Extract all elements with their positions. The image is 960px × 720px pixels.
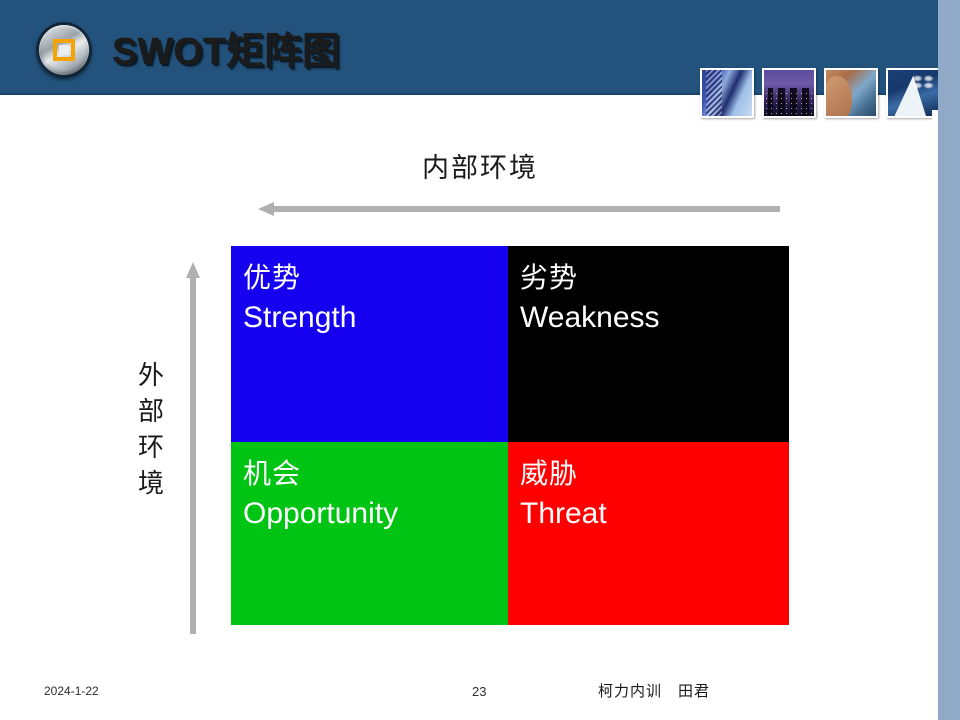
axis-label-char: 部 bbox=[134, 394, 168, 430]
arrow-shaft bbox=[272, 206, 780, 212]
swot-matrix: 优势 Strength 劣势 Weakness 机会 Opportunity 威… bbox=[231, 246, 789, 625]
night-city-skyline-photo bbox=[762, 68, 816, 118]
swot-quadrant-opportunity[interactable]: 机会 Opportunity bbox=[231, 442, 508, 625]
quadrant-label-cn: 机会 bbox=[243, 456, 508, 492]
quadrant-label-cn: 威胁 bbox=[520, 456, 789, 492]
quadrant-label-en: Opportunity bbox=[243, 494, 508, 534]
arrow-shaft bbox=[190, 276, 196, 634]
axis-label-char: 环 bbox=[134, 430, 168, 466]
footer-date: 2024-1-22 bbox=[44, 684, 99, 698]
quadrant-label-en: Strength bbox=[243, 298, 508, 338]
quadrant-label-cn: 优势 bbox=[243, 260, 508, 296]
quadrant-label-en: Threat bbox=[520, 494, 789, 534]
right-accent-bar bbox=[938, 0, 960, 720]
internal-environment-arrow bbox=[258, 202, 780, 216]
swot-quadrant-strength[interactable]: 优势 Strength bbox=[231, 246, 508, 442]
swot-quadrant-weakness[interactable]: 劣势 Weakness bbox=[508, 246, 789, 442]
header-thumbnail-strip bbox=[700, 68, 940, 118]
external-environment-axis-label: 外 部 环 境 bbox=[134, 358, 168, 502]
internal-environment-axis-label: 内部环境 bbox=[0, 146, 960, 185]
quadrant-label-cn: 劣势 bbox=[520, 260, 789, 296]
slide-canvas: SWOT矩阵图 内部环境 外 部 环 境 优势 Strength 劣势 Weak… bbox=[0, 0, 960, 720]
external-environment-arrow bbox=[186, 262, 200, 634]
logo-square-center-icon bbox=[59, 45, 69, 55]
quadrant-label-en: Weakness bbox=[520, 298, 789, 338]
slide-logo bbox=[36, 22, 92, 78]
page-title: SWOT矩阵图 bbox=[112, 20, 340, 75]
right-accent-bar-notch bbox=[932, 110, 938, 720]
footer-page-number: 23 bbox=[472, 684, 486, 699]
axis-label-char: 外 bbox=[134, 358, 168, 394]
axis-label-char: 境 bbox=[134, 466, 168, 502]
swot-quadrant-threat[interactable]: 威胁 Threat bbox=[508, 442, 789, 625]
person-on-mobile-phone-photo bbox=[824, 68, 878, 118]
glass-office-tower-photo bbox=[700, 68, 754, 118]
footer-note: 柯力内训 田君 bbox=[598, 680, 710, 701]
